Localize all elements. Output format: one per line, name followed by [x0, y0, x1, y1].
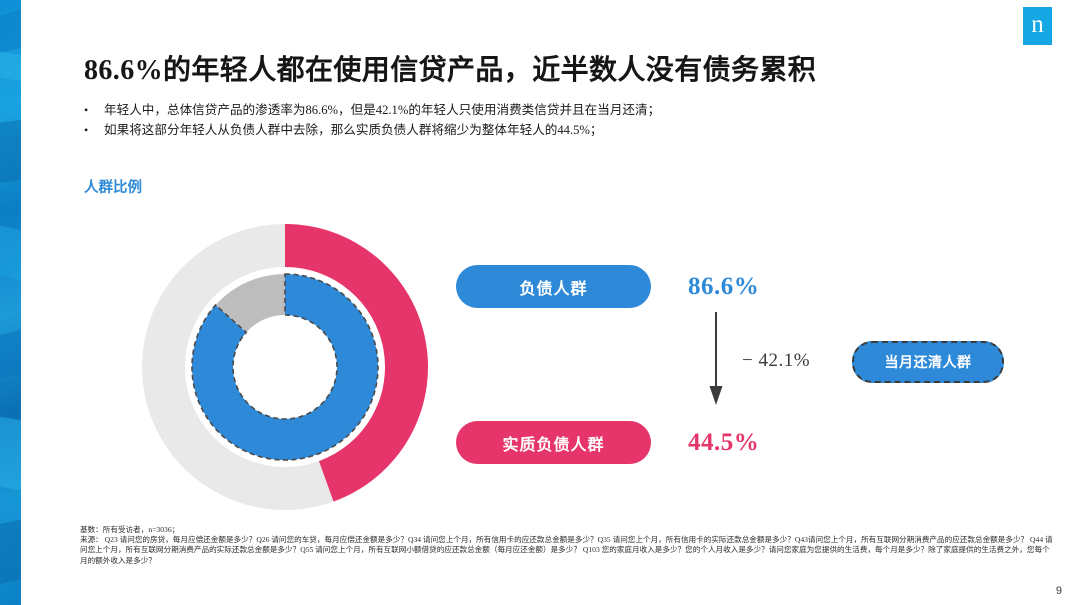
- logo-letter: n: [1031, 12, 1044, 37]
- legend-debt-group: 负债人群: [456, 265, 651, 308]
- bar-facet: [0, 50, 21, 87]
- bullet-marker-icon: •: [84, 100, 104, 120]
- footnote-base: 基数：所有受访者，n=3036；: [80, 525, 1055, 535]
- footnotes: 基数：所有受访者，n=3036； 来源： Q23 请问您的房贷，每月应偿还金额是…: [80, 525, 1055, 566]
- left-decorative-bar: [0, 0, 21, 605]
- bar-facet: [0, 514, 21, 586]
- bar-facet: [0, 415, 21, 495]
- bullet-text: 如果将这部分年轻人从负债人群中去除，那么实质负债人群将缩少为整体年轻人的44.5…: [104, 120, 964, 140]
- down-arrow-icon: [708, 312, 724, 406]
- section-heading: 人群比例: [84, 176, 142, 197]
- bullet-marker-icon: •: [84, 120, 104, 140]
- list-item: • 年轻人中，总体信贷产品的渗透率为86.6%，但是42.1%的年轻人只使用消费…: [84, 100, 964, 120]
- bar-facet: [0, 224, 21, 287]
- value-minus-percent: − 42.1%: [742, 350, 810, 372]
- footnote-source: 来源： Q23 请问您的房贷，每月应偿还金额是多少？Q26 请问您的车贷，每月应…: [80, 535, 1055, 566]
- page-number: 9: [1056, 585, 1062, 597]
- page-title: 86.6%的年轻人都在使用信贷产品，近半数人没有债务累积: [84, 48, 816, 88]
- list-item: • 如果将这部分年轻人从负债人群中去除，那么实质负债人群将缩少为整体年轻人的44…: [84, 120, 964, 140]
- bar-facet: [0, 116, 21, 184]
- legend-clear-in-month-group: 当月还清人群: [852, 341, 1004, 383]
- bullet-list: • 年轻人中，总体信贷产品的渗透率为86.6%，但是42.1%的年轻人只使用消费…: [84, 100, 964, 140]
- donut-chart-svg: [140, 222, 430, 512]
- bullet-text: 年轻人中，总体信贷产品的渗透率为86.6%，但是42.1%的年轻人只使用消费类信…: [104, 100, 964, 120]
- bar-facet: [0, 323, 21, 382]
- bar-facet: [0, 1, 21, 56]
- value-real-debt-percent: 44.5%: [688, 429, 759, 457]
- value-debt-percent: 86.6%: [688, 273, 759, 301]
- nielsen-logo-icon: n: [1023, 7, 1052, 45]
- donut-chart: [140, 222, 430, 512]
- legend-real-debt-group: 实质负债人群: [456, 421, 651, 464]
- slide: Copyright © 2019 The Nielsen Company (US…: [0, 0, 1080, 605]
